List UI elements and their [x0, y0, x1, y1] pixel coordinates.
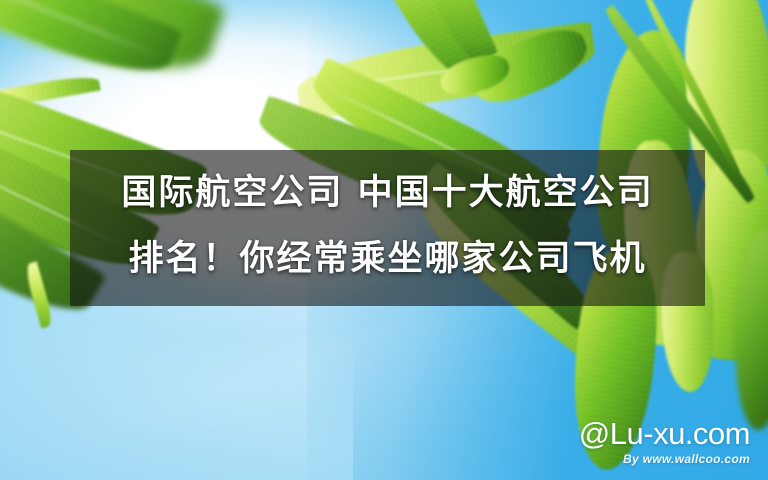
caption-text-block: 国际航空公司 中国十大航空公司 排名！你经常乘坐哪家公司飞机	[70, 150, 705, 306]
watermark: @Lu-xu.com By www.wallcoo.com	[579, 418, 750, 466]
watermark-sub-text: By www.wallcoo.com	[579, 452, 750, 466]
caption-line-2: 排名！你经常乘坐哪家公司飞机	[128, 226, 646, 292]
caption-line-1: 国际航空公司 中国十大航空公司	[121, 160, 653, 226]
wallpaper-image: 国际航空公司 中国十大航空公司 排名！你经常乘坐哪家公司飞机 @Lu-xu.co…	[0, 0, 768, 480]
watermark-main-text: @Lu-xu.com	[579, 418, 750, 449]
